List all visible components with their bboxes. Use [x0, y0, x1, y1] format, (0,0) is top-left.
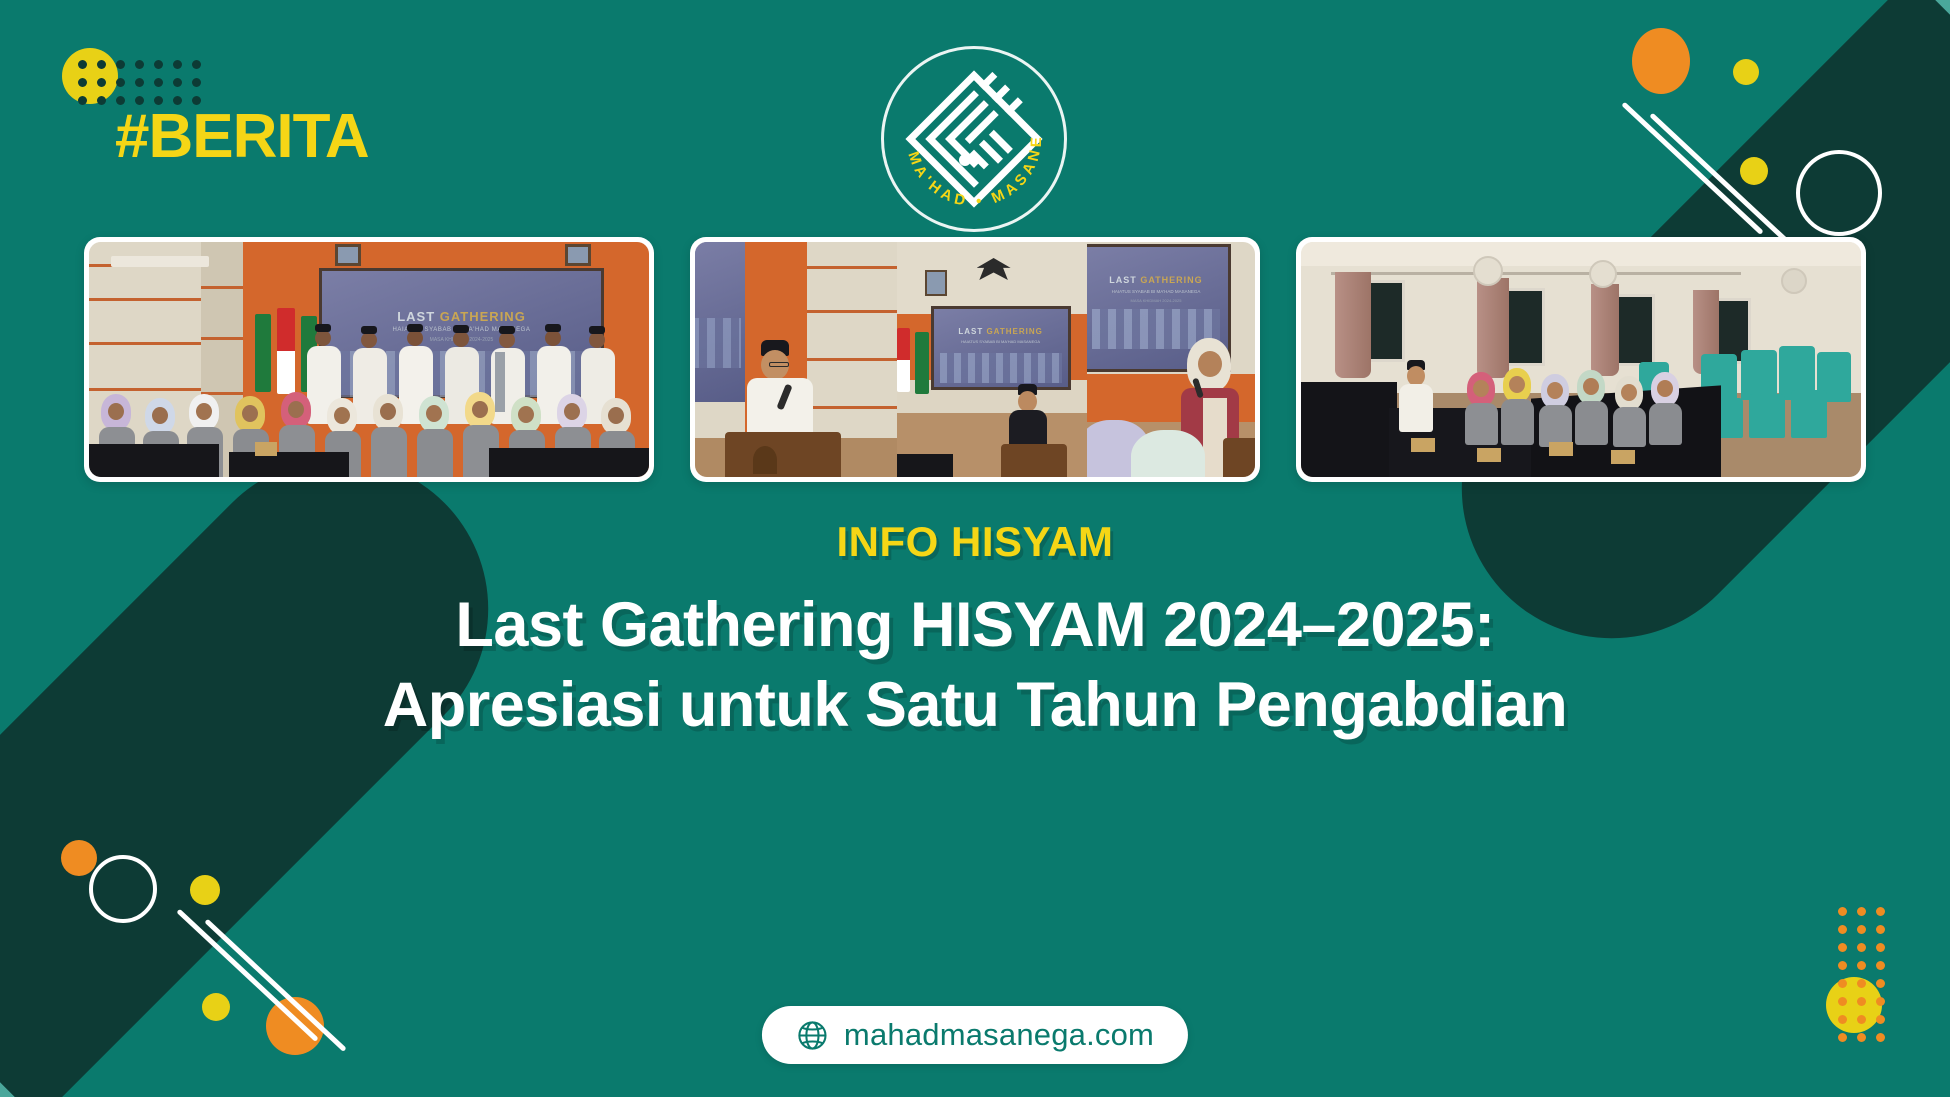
logo-arc-text: MA'HAD • MASANEGA: [881, 46, 1067, 232]
category-tag: #BERITA: [115, 101, 369, 172]
orange-dot-bl-small: [61, 840, 97, 876]
yellow-dot-tr-1: [1733, 59, 1759, 85]
page-title-line-1: Last Gathering HISYAM 2024–2025:: [455, 590, 1494, 660]
diagonal-bar-tr-2: [1631, 0, 1950, 91]
poster-canvas: #BERITA MA'HAD • MASANEG: [0, 0, 1950, 1097]
photo-card-speakers-image: LAST GATHERING HAIATUS SYABAB BI MA'HAD …: [695, 242, 1255, 477]
dark-diagonal-band-bottom-left: [0, 397, 550, 1097]
eyebrow-heading: INFO HISYAM: [0, 518, 1950, 566]
yellow-dot-bl-1: [190, 875, 220, 905]
website-pill[interactable]: mahadmasanega.com: [762, 1006, 1188, 1064]
orange-circle-bottom-left: [266, 997, 324, 1055]
logo-arc-label: MA'HAD • MASANEGA: [881, 46, 1045, 210]
photo-card-speakers[interactable]: LAST GATHERING HAIATUS SYABAB BI MA'HAD …: [690, 237, 1260, 482]
diagonal-bar-bl-2: [0, 1006, 319, 1097]
white-ring-top-right: [1796, 150, 1882, 236]
dot-grid-bottom-right: [1838, 907, 1895, 1051]
diagonal-bar-bl-4: [0, 949, 26, 1097]
diagonal-bar-tr-3: [1802, 0, 1950, 116]
diagonal-bar-tr-4: [1924, 0, 1950, 148]
white-line-bl-1: [176, 909, 318, 1042]
white-line-bl-2: [204, 919, 346, 1052]
diagonal-bar-bl-3: [0, 981, 148, 1097]
photo-gallery: LAST GATHERING HAIATUS SYABAB BI MA'HAD …: [0, 237, 1950, 482]
orange-circle-top-right: [1632, 28, 1690, 94]
photo-card-audience-image: [1301, 242, 1861, 477]
white-line-tr-1: [1621, 102, 1763, 235]
svg-text:MA'HAD • MASANEGA: MA'HAD • MASANEGA: [881, 46, 1045, 210]
page-title: Last Gathering HISYAM 2024–2025: Apresia…: [0, 585, 1950, 745]
page-title-line-2: Apresiasi untuk Satu Tahun Pengabdian: [0, 665, 1950, 745]
yellow-dot-tr-2: [1740, 157, 1768, 185]
photo-card-group-photo-image: LAST GATHERING HAIATUS SYABAB BI MA'HAD …: [89, 242, 649, 477]
yellow-dot-bl-2: [202, 993, 230, 1021]
globe-icon: [796, 1019, 829, 1052]
diagonal-bar-bl-1: [0, 1031, 247, 1097]
white-line-tr-2: [1649, 113, 1791, 246]
diagonal-bar-tr-1: [1703, 0, 1950, 66]
mahad-masanega-logo: MA'HAD • MASANEGA: [881, 46, 1067, 232]
website-url: mahadmasanega.com: [844, 1017, 1154, 1053]
photo-card-group-photo[interactable]: LAST GATHERING HAIATUS SYABAB BI MA'HAD …: [84, 237, 654, 482]
white-ring-bottom-left: [89, 855, 157, 923]
photo-card-audience[interactable]: [1296, 237, 1866, 482]
